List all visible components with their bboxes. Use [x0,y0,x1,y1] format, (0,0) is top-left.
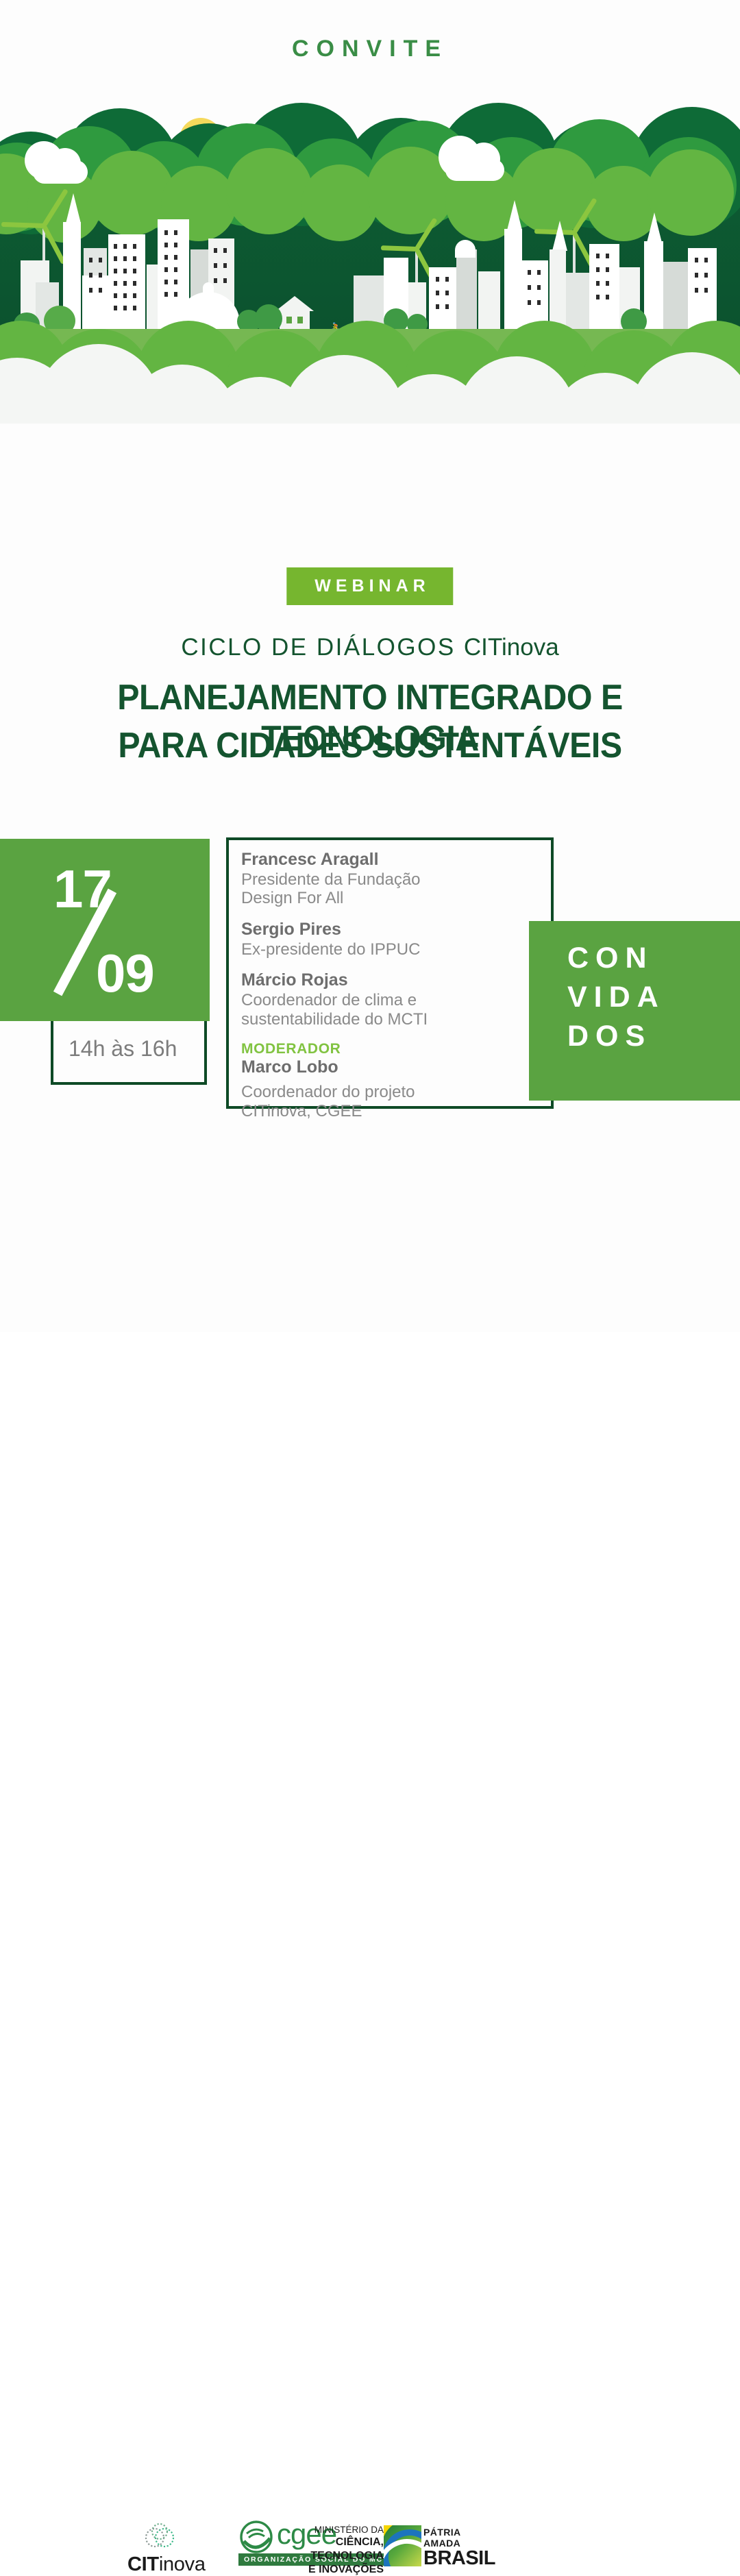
page-kicker: CONVITE [0,36,740,62]
speaker-role-line: Design For All [241,889,433,908]
building [456,249,477,336]
dome-top [203,282,214,300]
building [478,271,500,336]
speaker-role-line: Presidente da Fundação [241,870,433,890]
guests-line-1: CON [529,939,740,978]
event-series: CICLO DE DIÁLOGOS CITinova [0,634,740,661]
speaker-name: Márcio Rojas [241,970,433,991]
moderator-role-line: CITinova, CGEE [241,1102,433,1121]
hero-illustration: 🚴 [0,103,740,445]
guests-block: CON VIDA DOS [529,921,740,1101]
building [589,244,619,336]
list-item: Sergio Pires Ex-presidente do IPPUC [241,920,433,959]
event-series-brand: CITinova [464,634,559,661]
speaker-role-line: Ex-presidente do IPPUC [241,940,433,959]
list-item: Márcio Rojas Coordenador de clima e sust… [241,970,433,1029]
speaker-name: Sergio Pires [241,920,433,940]
list-item: Francesc Aragall Presidente da Fundação … [241,850,433,908]
canopy-blob [301,164,378,241]
speakers-list: Francesc Aragall Presidente da Fundação … [241,850,433,1133]
speaker-name: Francesc Aragall [241,850,433,870]
building-spire [552,221,567,251]
building [663,262,688,336]
bottom-fade [0,424,740,445]
building [82,275,115,336]
event-series-text: CICLO DE DIÁLOGOS [181,634,464,661]
cgee-logo-icon [240,2520,273,2553]
building [644,241,663,336]
speaker-role-line: Coordenador de clima e [241,991,433,1010]
ministry-line-3: E INOVAÇÕES [288,2563,384,2576]
building-spire [507,200,522,230]
moderator-name: Marco Lobo [241,1057,433,1078]
brasil-flag-icon [384,2525,421,2566]
moderator-label: MODERADOR [241,1041,433,1057]
webinar-badge: WEBINAR [286,567,453,605]
cloud-icon [445,159,504,181]
cloud-icon [33,160,88,184]
guests-line-3: DOS [529,1017,740,1056]
guests-line-2: VIDA [529,978,740,1017]
canopy-blob [226,148,312,234]
citinova-suffix: inova [159,2553,206,2575]
brasil-wordmark: PÁTRIA AMADA BRASIL GOVERNO FEDERAL [423,2527,495,2566]
citinova-prefix: CIT [127,2553,159,2575]
building-top [455,240,476,258]
page-title-line2: PARA CIDADES SUSTENTÁVEIS [26,725,714,766]
ministry-logo: MINISTÉRIO DA CIÊNCIA, TECNOLOGIA E INOV… [288,2525,384,2576]
moderator-role-line: Coordenador do projeto [241,1083,433,1102]
building-spire [647,212,662,243]
building [429,267,456,336]
building-spire [66,193,81,223]
brasil-line-2: BRASIL [423,2549,495,2566]
footer-logos: CITinova cgee ORGANIZAÇÃO SOCIAL DO MCTI… [0,1258,740,1327]
building [504,229,522,336]
house-roof [275,296,314,311]
citinova-wordmark: CITinova [127,2553,206,2576]
event-time: 14h às 16h [69,1036,177,1062]
building [566,273,589,336]
ministry-line-2: CIÊNCIA, TECNOLOGIA [288,2536,384,2562]
date-month: 09 [96,942,154,1005]
brasil-line-1: PÁTRIA AMADA [423,2527,495,2549]
speaker-role-line: sustentabilidade do MCTI [241,1010,433,1029]
moderator-item: MODERADOR Marco Lobo Coordenador do proj… [241,1041,433,1121]
ministry-line-1: MINISTÉRIO DA [288,2525,384,2536]
citinova-logo-icon [144,2523,175,2553]
brasil-government-logo: PÁTRIA AMADA BRASIL GOVERNO FEDERAL [384,2525,495,2566]
